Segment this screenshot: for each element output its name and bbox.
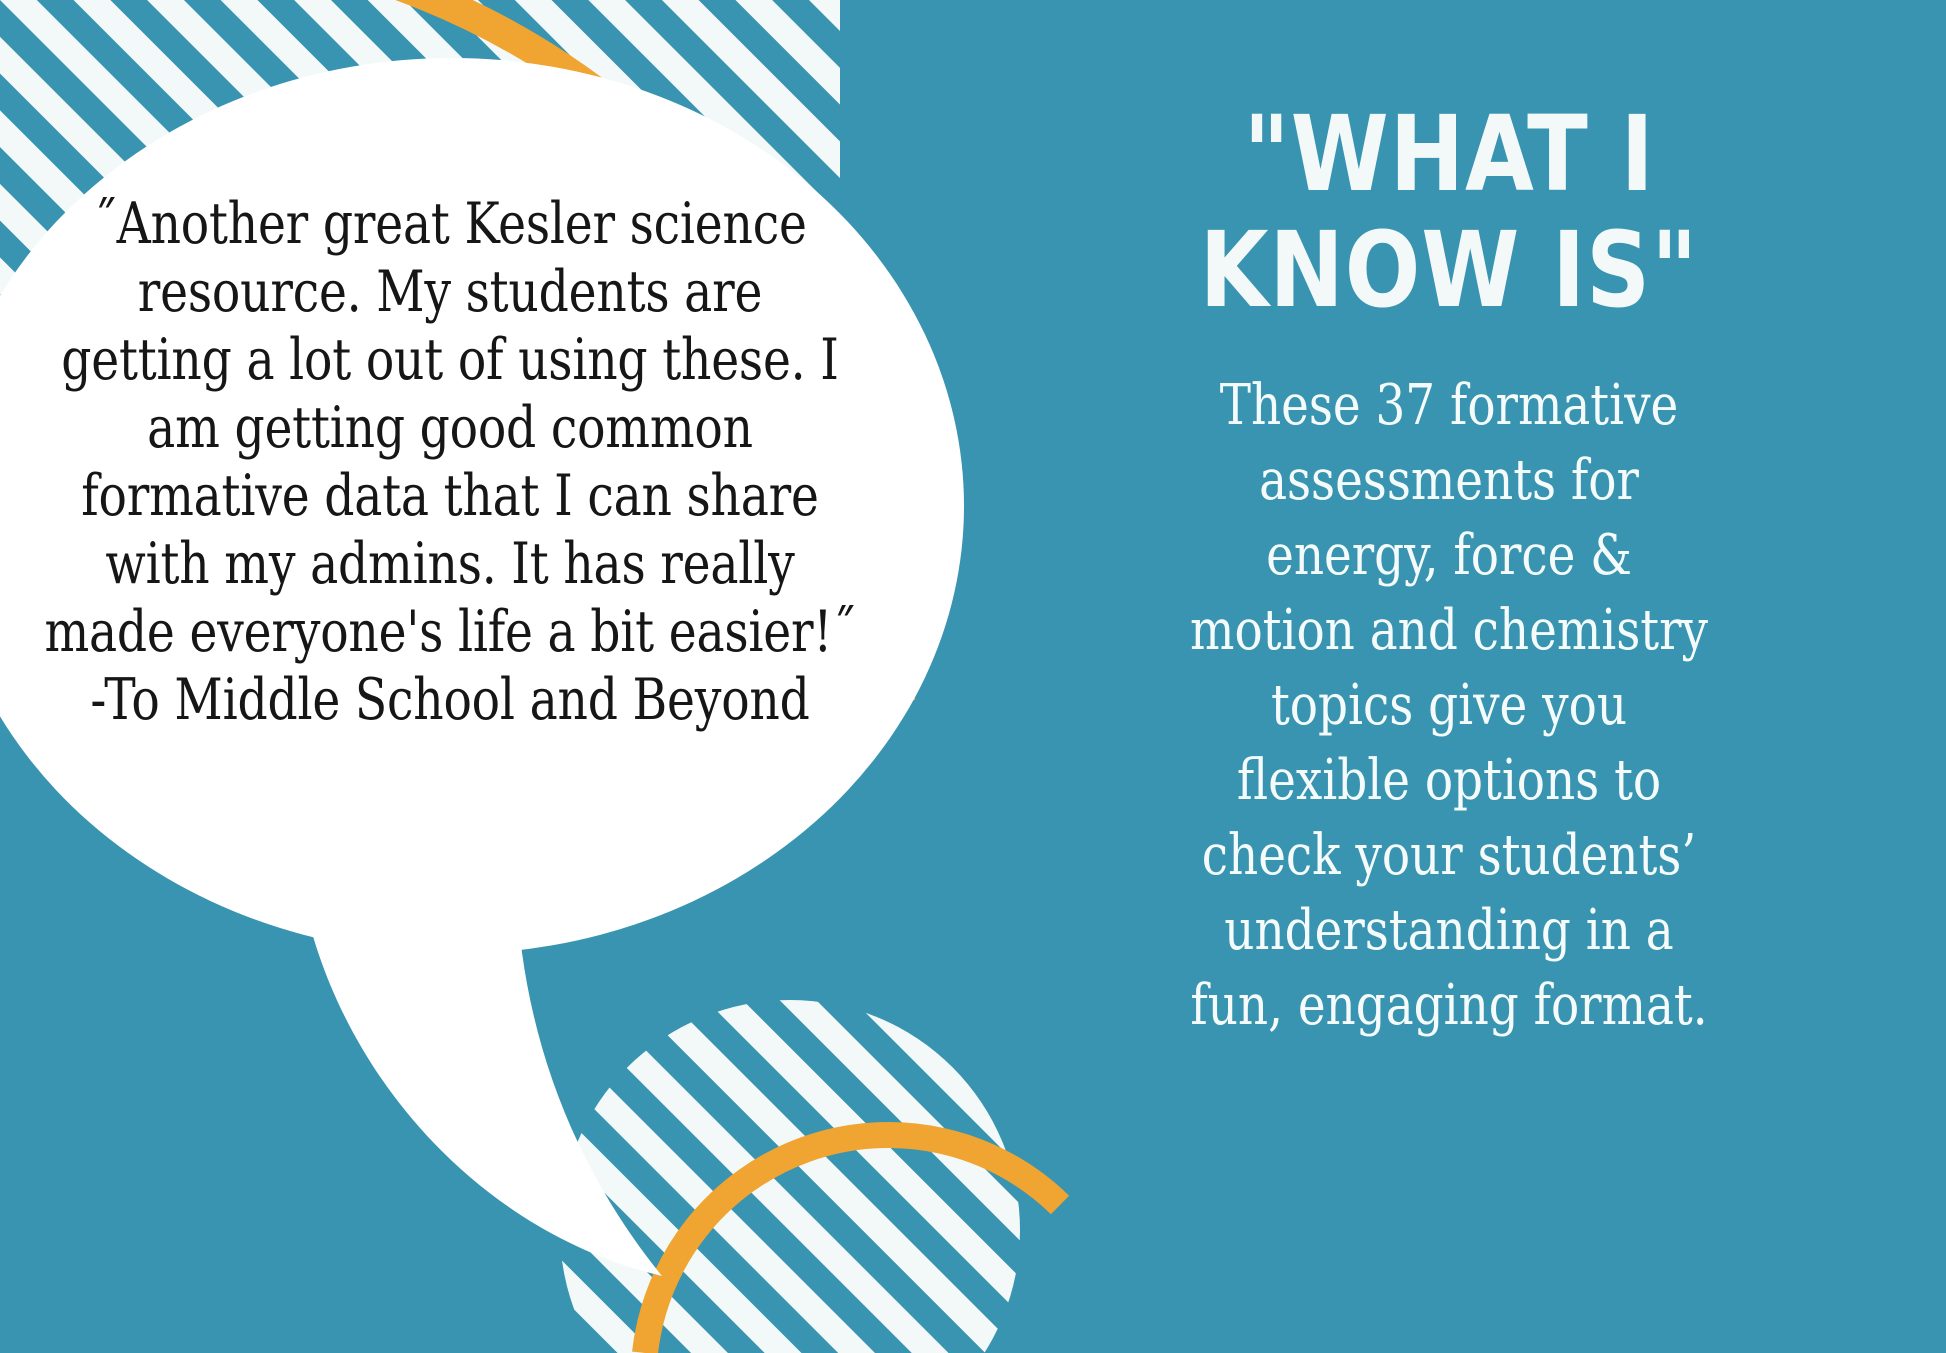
headline-line: KNOW IS" (977, 212, 1921, 328)
description-text: These 37 formative assessments for energ… (964, 368, 1934, 1043)
description-line: fun, engaging format. (998, 968, 1900, 1043)
quote-line: resource. My students are (36, 258, 864, 326)
quote-line: formative data that I can share (36, 462, 864, 530)
promo-poster: ˝Another great Kesler science resource. … (0, 0, 1946, 1353)
quote-line: getting a lot out of using these. I (36, 326, 864, 394)
description-line: check your students’ (998, 818, 1900, 893)
description-line: topics give you (998, 668, 1900, 743)
headline-line: "WHAT I (977, 96, 1921, 212)
description-line: motion and chemistry (998, 593, 1900, 668)
right-column: "WHAT I KNOW IS" These 37 formative asse… (952, 0, 1946, 1353)
description-line: assessments for (998, 443, 1900, 518)
quote-line: ˝Another great Kesler science (36, 190, 864, 258)
testimonial-quote: ˝Another great Kesler science resource. … (0, 190, 900, 734)
quote-line: am getting good common (36, 394, 864, 462)
quote-line: made everyone's life a bit easier!˝ (36, 598, 864, 666)
description-line: understanding in a (998, 893, 1900, 968)
description-line: energy, force & (998, 518, 1900, 593)
quote-line: with my admins. It has really (36, 530, 864, 598)
description-line: flexible options to (998, 743, 1900, 818)
description-line: These 37 formative (998, 368, 1900, 443)
page-title: "WHAT I KNOW IS" (952, 96, 1946, 328)
quote-attribution: -To Middle School and Beyond (36, 666, 864, 734)
